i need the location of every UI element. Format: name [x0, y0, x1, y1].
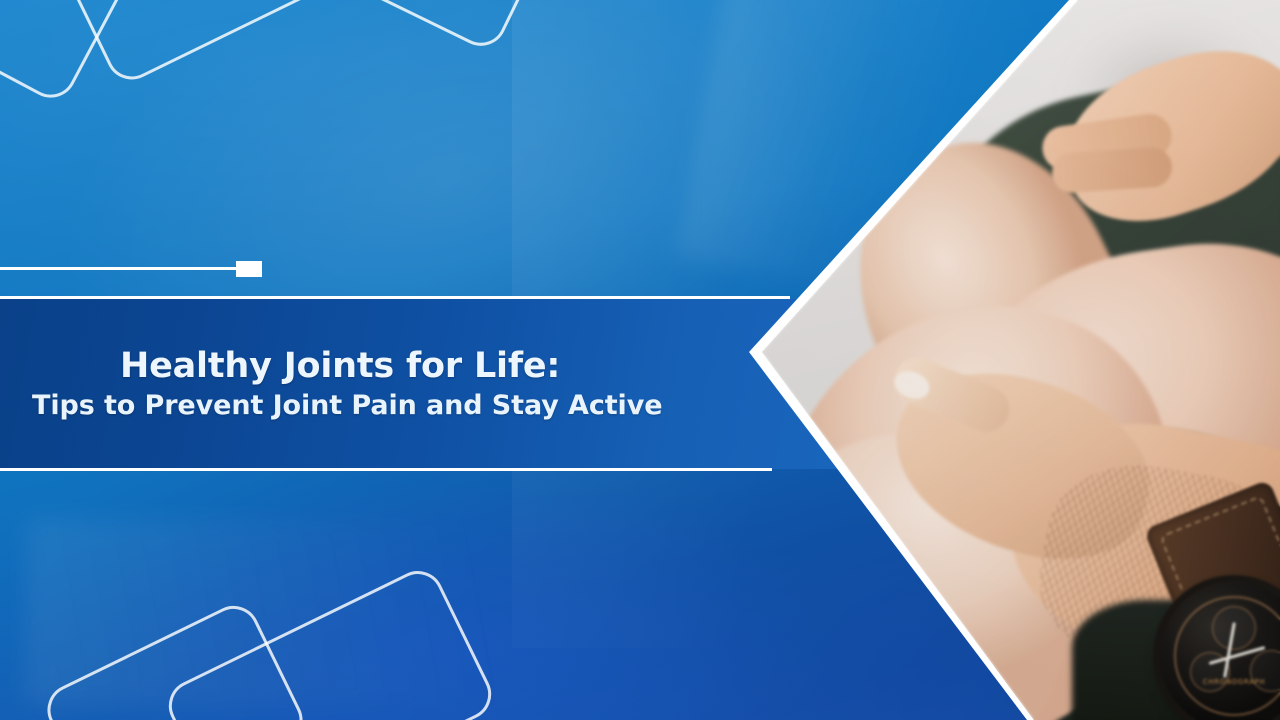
page-title: Healthy Joints for Life: — [120, 348, 760, 385]
photo-finger — [1051, 146, 1173, 194]
accent-rule — [0, 267, 240, 270]
title-group: Healthy Joints for Life: Tips to Prevent… — [0, 299, 760, 469]
page-subtitle: Tips to Prevent Joint Pain and Stay Acti… — [32, 391, 760, 421]
watch-brand-label: CHRONOGRAPH — [1194, 678, 1274, 686]
banner-hero: Healthy Joints for Life: Tips to Prevent… — [0, 0, 1280, 720]
accent-block-marker — [236, 261, 262, 277]
